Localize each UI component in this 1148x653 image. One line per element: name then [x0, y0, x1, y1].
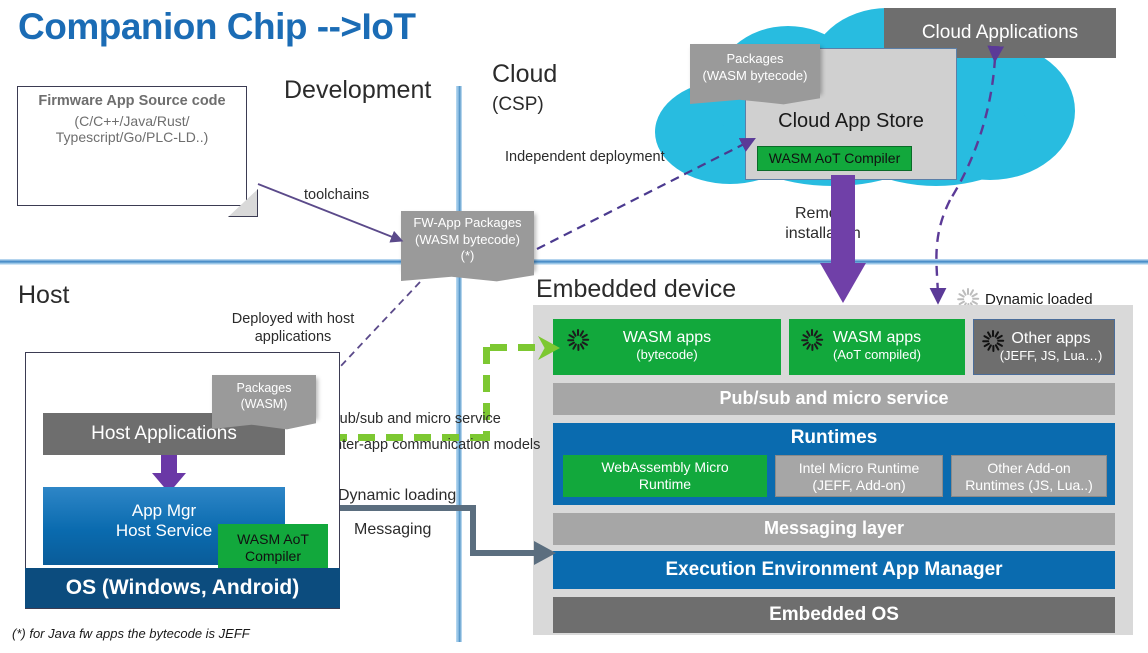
host-aot-line1: WASM AoT: [218, 524, 328, 548]
remote-installation-arrow: [820, 175, 866, 303]
label-pubsub-micro-service: Pub/sub and micro service: [330, 410, 501, 428]
embedded-pubsub-bar[interactable]: Pub/sub and micro service: [553, 383, 1115, 415]
footnote: (*) for Java fw apps the bytecode is JEF…: [12, 626, 250, 641]
embedded-runtime-2-l1: Other Add-on: [952, 456, 1106, 477]
embedded-app-2[interactable]: Other apps (JEFF, JS, Lua…): [973, 319, 1115, 375]
label-deployed-line1: Deployed with host: [218, 310, 368, 328]
label-deployed-line2: applications: [218, 328, 368, 346]
embedded-runtime-2-l2: Runtimes (JS, Lua..): [952, 477, 1106, 494]
label-inter-app-communication: Inter-app communication models: [330, 436, 540, 454]
embedded-runtime-1-l1: Intel Micro Runtime: [776, 456, 942, 477]
host-packages-line1: Packages: [237, 380, 292, 396]
label-messaging: Messaging: [354, 520, 431, 540]
embedded-dynamic-dashed-arrow: [936, 200, 950, 300]
host-aot-line2: Compiler: [218, 548, 328, 565]
embedded-app-manager-bar[interactable]: Execution Environment App Manager: [553, 551, 1115, 589]
label-independent-deployment: Independent deployment: [505, 148, 665, 166]
embedded-runtime-0[interactable]: WebAssembly Micro Runtime: [563, 455, 767, 497]
embedded-runtimes-title: Runtimes: [553, 423, 1115, 450]
label-deployed-with-host: Deployed with host applications: [218, 310, 368, 346]
embedded-messaging-layer-bar[interactable]: Messaging layer: [553, 513, 1115, 545]
host-aot-compiler-box[interactable]: WASM AoT Compiler: [218, 524, 328, 570]
embedded-runtime-1-l2: (JEFF, Add-on): [776, 477, 942, 494]
embedded-os-bar[interactable]: Embedded OS: [553, 597, 1115, 633]
embedded-runtime-1[interactable]: Intel Micro Runtime (JEFF, Add-on): [775, 455, 943, 497]
embedded-device-panel: WASM apps (bytecode) WASM apps (AoT comp…: [533, 305, 1133, 635]
pubsub-green-dashed-horizontal-top: [490, 344, 545, 351]
label-toolchains: toolchains: [304, 186, 369, 204]
embedded-runtime-0-l1: WebAssembly Micro: [563, 455, 767, 476]
dynamic-loading-connector-vertical: [470, 508, 476, 556]
label-dynamic-loading: Dynamic loading: [338, 486, 456, 506]
host-os-bar[interactable]: OS (Windows, Android): [25, 568, 340, 608]
embedded-app-0[interactable]: WASM apps (bytecode): [553, 319, 781, 375]
embedded-runtime-0-l2: Runtime: [563, 476, 767, 493]
embedded-app-1[interactable]: WASM apps (AoT compiled): [789, 319, 965, 375]
cloud-applications-dashed-arrow: [950, 58, 995, 200]
host-packages-callout: Packages (WASM): [212, 375, 316, 417]
host-packages-line2: (WASM): [237, 396, 292, 412]
host-app-mgr-line1: App Mgr: [43, 487, 285, 521]
embedded-runtime-2[interactable]: Other Add-on Runtimes (JS, Lua..): [951, 455, 1107, 497]
